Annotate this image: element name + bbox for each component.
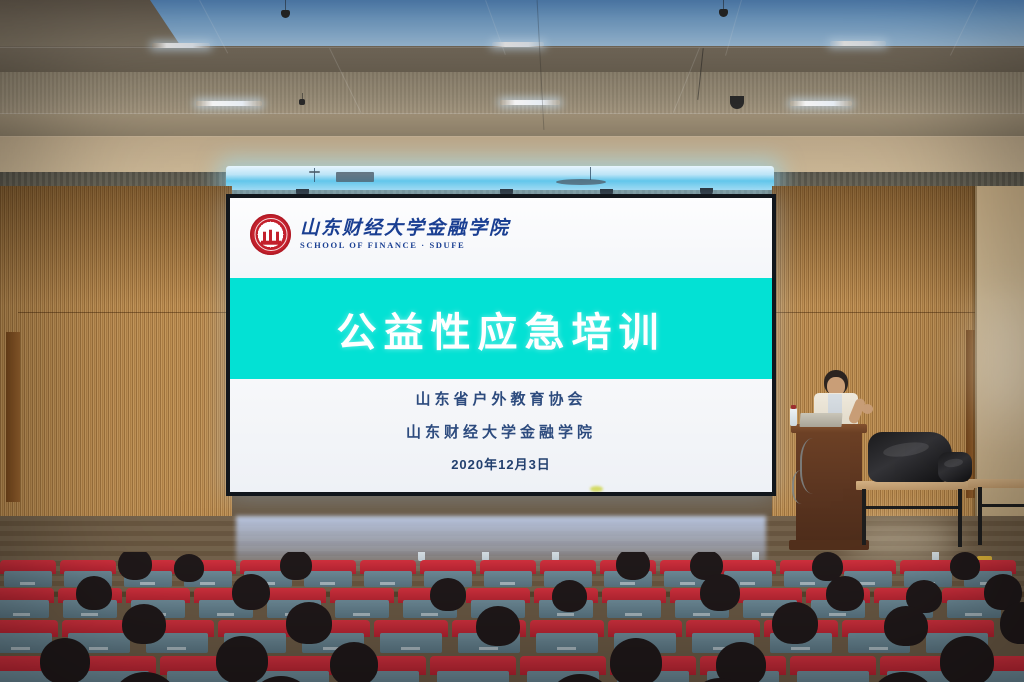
audience-member — [216, 636, 268, 682]
audience-member — [76, 576, 112, 610]
slide-logo-row: 山东财经大学金融学院 SCHOOL OF FINANCE · SDUFE — [250, 214, 510, 255]
audience-member — [616, 552, 650, 580]
audience-member — [552, 580, 587, 612]
wall-recess-left — [6, 332, 20, 502]
audience-member — [280, 552, 312, 580]
ceiling-light-fixture — [500, 100, 560, 105]
audience-area — [0, 552, 1024, 682]
ceiling-light-fixture — [790, 101, 852, 106]
podium-laptop — [800, 413, 843, 427]
black-equipment-bag-small — [938, 452, 972, 482]
ceiling — [0, 0, 1024, 172]
auditorium-photo: 山东财经大学金融学院 SCHOOL OF FINANCE · SDUFE 公益性… — [0, 0, 1024, 682]
ceiling-perforated-panel — [0, 72, 1024, 114]
audience-member — [884, 606, 928, 646]
slide-title: 公益性应急培训 — [230, 278, 772, 379]
slide-date: 2020年12月3日 — [230, 454, 772, 473]
podium-water-bottle — [790, 408, 797, 426]
audience-member — [40, 638, 90, 682]
audience-member — [716, 642, 766, 682]
ceiling-panel-band — [0, 46, 1024, 72]
laser-pointer-dot-icon — [590, 486, 603, 492]
audience-member — [826, 576, 864, 611]
slide-subtitle-line-1: 山东省户外教育协会 — [230, 388, 772, 409]
audience-seat — [790, 656, 876, 682]
ceiling-light-fixture — [196, 101, 262, 106]
audience-member — [772, 602, 818, 644]
audience-member — [700, 574, 740, 611]
audience-member — [940, 636, 994, 682]
projection-screen: 山东财经大学金融学院 SCHOOL OF FINANCE · SDUFE 公益性… — [226, 194, 776, 496]
ceiling-sensor-icon — [299, 99, 305, 105]
audience-member — [232, 574, 270, 610]
slide-organization-cn: 山东财经大学金融学院 — [300, 219, 510, 239]
audience-member — [950, 552, 980, 580]
ceiling-light-fixture — [830, 41, 886, 46]
audience-member — [286, 602, 332, 644]
ceiling-light-fixture — [152, 43, 210, 48]
slide-subtitle-line-2: 山东财经大学金融学院 — [230, 421, 772, 442]
ceiling-panel-band — [0, 114, 1024, 136]
audience-member — [330, 642, 378, 682]
presenter-hand — [862, 404, 873, 414]
university-seal-icon — [250, 214, 291, 255]
audience-member — [610, 638, 662, 682]
slide-organization-en: SCHOOL OF FINANCE · SDUFE — [300, 240, 510, 250]
ceiling-cove-light — [150, 0, 1024, 46]
slide-subtitle-block: 山东省户外教育协会 山东财经大学金融学院 2020年12月3日 — [230, 388, 772, 473]
stage-led-light-strip — [226, 166, 774, 190]
audience-member — [122, 604, 166, 644]
audience-seat — [430, 656, 516, 682]
audience-member — [430, 578, 466, 611]
ceiling-light-fixture — [492, 42, 544, 47]
audience-member — [174, 554, 204, 582]
floor-cable — [792, 470, 816, 504]
audience-member — [476, 606, 520, 646]
audience-member — [118, 552, 152, 580]
